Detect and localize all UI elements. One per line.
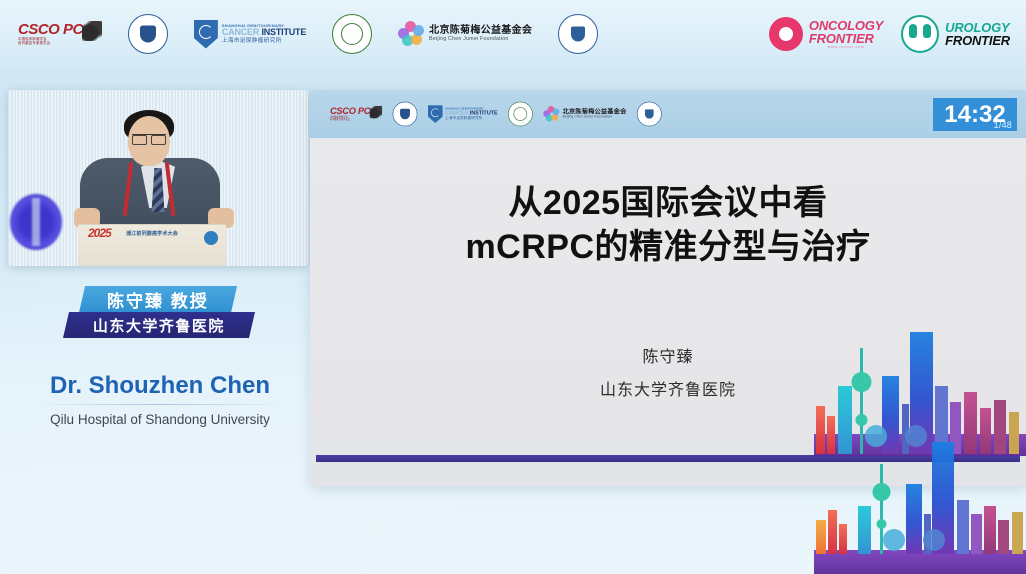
slide-beijing-chen-jumei-foundation-logo: 北京陈菊梅公益基金会 Beijing Chen Jumei Foundation	[543, 106, 626, 122]
slide-seal-logo-2-icon	[637, 102, 662, 127]
speaker-name-badge: 陈守臻 教授	[79, 286, 237, 313]
nameplate-divider	[30, 404, 290, 405]
sgci-line2: CANCER INSTITUTE	[222, 28, 306, 38]
speaker-name-badge-label: 陈守臻 教授	[107, 287, 209, 312]
seal-logo-1-icon	[128, 14, 168, 54]
top-sponsor-header: CSCO PC 中国临床肿瘤学会前列腺癌专家委员会 SHANGHAI GENIT…	[0, 0, 1026, 68]
speaker-video-panel[interactable]: 2025 浦江前列腺癌学术大会	[8, 90, 308, 266]
glasses-icon	[132, 134, 166, 143]
seal-logo-green-icon	[332, 14, 372, 54]
podium-banner: 2025 浦江前列腺癌学术大会	[78, 224, 226, 266]
horse-icon	[82, 21, 102, 41]
slide-shanghai-gu-cancer-institute-logo: SHANGHAI GENITOURINARY CANCER INSTITUTE …	[428, 105, 498, 123]
slide-horse-icon	[370, 106, 382, 118]
speaker-name-en: Dr. Shouzhen Chen	[0, 372, 320, 400]
slide-sponsor-logos: CSCO PC 中国临床肿瘤学会前列腺癌专家委员会 SHANGHAI GENIT…	[330, 102, 662, 127]
crab-icon	[769, 17, 803, 51]
slide-presenter-affiliation: 山东大学齐鲁医院	[310, 376, 1026, 400]
podium-banner-text: 浦江前列腺癌学术大会	[86, 230, 218, 237]
slide-accent-bar	[316, 455, 1020, 462]
slide-shield-icon	[428, 105, 443, 123]
slide-title-line1: 从2025国际会议中看	[310, 182, 1026, 226]
header-left-logos: CSCO PC 中国临床肿瘤学会前列腺癌专家委员会 SHANGHAI GENIT…	[18, 14, 598, 54]
beijing-chen-jumei-foundation-logo: 北京陈菊梅公益基金会 Beijing Chen Jumei Foundation	[398, 21, 532, 47]
oncology-frontier-logo: ONCOLOGY FRONTIER www.ioncol.com	[769, 17, 883, 51]
slide-content-area: 从2025国际会议中看 mCRPC的精准分型与治疗 陈守臻 山东大学齐鲁医院	[310, 138, 1026, 486]
slide-title-line2: mCRPC的精准分型与治疗	[310, 226, 1026, 270]
slide-title: 从2025国际会议中看 mCRPC的精准分型与治疗	[310, 182, 1026, 269]
kidney-icon	[901, 15, 939, 53]
urology-line2: FRONTIER	[945, 34, 1010, 47]
slide-flower-icon	[543, 106, 559, 122]
session-timer-badge[interactable]: 14:32 1/48	[933, 98, 1017, 131]
slide-csco-pc-line1: CSCO PC	[330, 107, 370, 116]
slide-seal-logo-green-icon	[508, 102, 533, 127]
speaker-affiliation-badge: 山东大学齐鲁医院	[63, 312, 255, 338]
csco-pc-logo-line1: CSCO PC	[18, 23, 83, 37]
header-right-logos: ONCOLOGY FRONTIER www.ioncol.com UROLOGY…	[769, 15, 1010, 53]
speaker-affiliation-en: Qilu Hospital of Shandong University	[0, 412, 320, 427]
csco-pc-logo: CSCO PC 中国临床肿瘤学会前列腺癌专家委员会	[18, 21, 102, 47]
podium-logo-icon	[204, 231, 218, 245]
speaker-affiliation-badge-label: 山东大学齐鲁医院	[93, 315, 225, 336]
slide-logo-strip: CSCO PC 中国临床肿瘤学会前列腺癌专家委员会 SHANGHAI GENIT…	[310, 90, 1026, 138]
csco-pc-logo-cn: 中国临床肿瘤学会前列腺癌专家委员会	[18, 37, 83, 46]
slide-sgci-line3: 上海市泌尿肿瘤研究所	[445, 116, 497, 120]
shanghai-gu-cancer-institute-logo: SHANGHAI GENITOURINARY CANCER INSTITUTE …	[194, 20, 306, 49]
shield-icon	[194, 20, 218, 49]
slide-presenter-name: 陈守臻	[310, 343, 1026, 367]
urology-frontier-logo: UROLOGY FRONTIER	[901, 15, 1010, 53]
stage-globe-graphic	[10, 194, 62, 250]
flower-icon	[398, 21, 424, 47]
slide-counter: 1/48	[994, 120, 1012, 130]
slide-csco-pc-cn: 中国临床肿瘤学会前列腺癌专家委员会	[330, 116, 370, 121]
slide-csco-pc-logo: CSCO PC 中国临床肿瘤学会前列腺癌专家委员会	[330, 106, 382, 122]
slide-bcjf-en: Beijing Chen Jumei Foundation	[563, 116, 627, 120]
sgci-line3: 上海市泌尿肿瘤研究所	[222, 38, 306, 44]
bcjf-en: Beijing Chen Jumei Foundation	[429, 37, 532, 43]
speaker-nameplate: 陈守臻 教授 山东大学齐鲁医院	[0, 286, 320, 338]
presentation-slide[interactable]: CSCO PC 中国临床肿瘤学会前列腺癌专家委员会 SHANGHAI GENIT…	[310, 90, 1026, 486]
seal-logo-2-icon	[558, 14, 598, 54]
slide-seal-logo-1-icon	[393, 102, 418, 127]
